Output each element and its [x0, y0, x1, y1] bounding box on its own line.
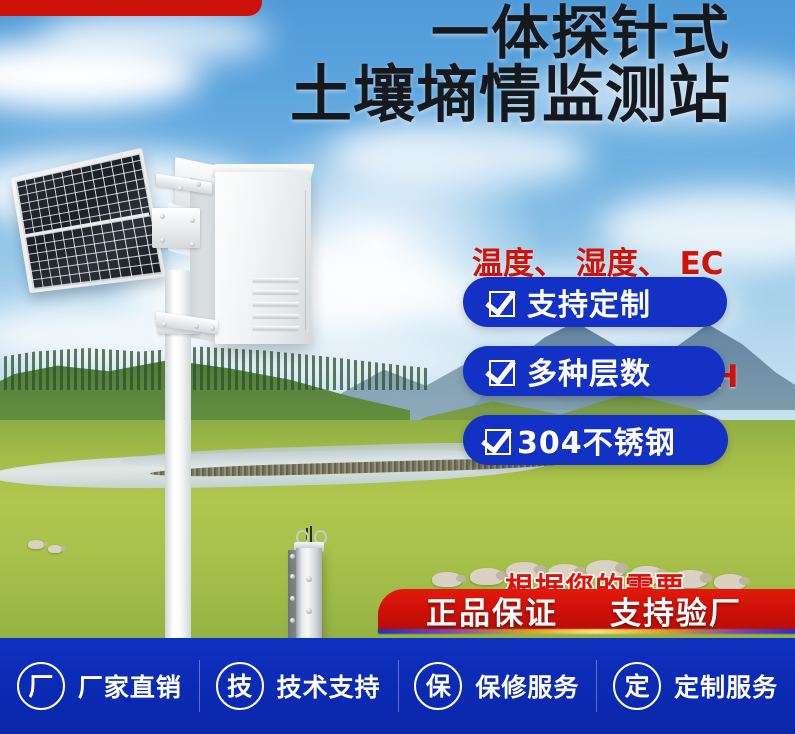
sheep: [470, 568, 504, 585]
bolt: [194, 324, 199, 329]
custom-badge-icon: 定: [613, 662, 661, 710]
probe-screw: [290, 554, 295, 559]
bolt: [190, 242, 195, 247]
bolt: [178, 186, 183, 191]
probe-indicator: [306, 576, 312, 582]
service-label: 定制服务: [674, 668, 778, 704]
cabinet-vent-louver: [252, 326, 299, 330]
bolt: [160, 214, 165, 219]
cabinet-vent-louver: [252, 290, 299, 294]
checkbox-checked-icon: [489, 358, 515, 384]
equipment-cabinet: [215, 172, 311, 344]
page-title: 一体探针式 土壤墒情监测站: [290, 4, 731, 126]
bolt: [160, 238, 165, 243]
headline-line-2: 土壤墒情监测站: [290, 63, 731, 126]
service-bar: 厂 厂家直销 技 技术支持 保 保修服务 定 定制服务: [0, 638, 795, 734]
product-illustration: [0, 150, 400, 630]
bolt: [190, 218, 195, 223]
probe-screw: [290, 618, 295, 623]
service-item-tech-support[interactable]: 技 技术支持: [199, 638, 398, 734]
feature-pill-support-custom[interactable]: 支持定制: [463, 277, 727, 327]
headline-line-1: 一体探针式: [290, 4, 731, 63]
cabinet-door-seam: [305, 190, 306, 330]
top-red-accent-bar: [0, 0, 262, 16]
service-item-customization[interactable]: 定 定制服务: [596, 638, 795, 734]
solar-panel: [11, 148, 166, 294]
cabinet-vent-louver: [252, 278, 299, 282]
probe-indicator: [306, 608, 312, 614]
warranty-badge-icon: 保: [414, 662, 462, 710]
tech-badge-icon: 技: [216, 662, 264, 710]
product-poster: 一体探针式 土壤墒情监测站 温度、 湿度、 EC 盐分、 NPK、 pH 支持定…: [0, 0, 795, 734]
guarantee-banner: 正品保证 支持验厂: [378, 589, 795, 632]
cabinet-vent-louver: [252, 314, 299, 318]
checkbox-checked-icon: [485, 427, 511, 453]
feature-pill-stainless-steel[interactable]: 304不锈钢: [463, 415, 728, 465]
feature-pill-label: 多种层数: [527, 349, 651, 393]
feature-pill-multi-layer[interactable]: 多种层数: [463, 346, 725, 396]
bolt: [196, 182, 201, 187]
bolt: [162, 322, 167, 327]
bolt: [210, 326, 215, 331]
probe-screw: [290, 596, 295, 601]
cloud-icon: [40, 10, 270, 64]
cabinet-vent-louver: [252, 302, 299, 306]
factory-badge-icon: 厂: [17, 662, 65, 710]
banner-item-factory-audit: 支持验厂: [610, 588, 742, 633]
service-item-factory-direct[interactable]: 厂 厂家直销: [0, 638, 199, 734]
service-label: 保修服务: [475, 668, 579, 704]
service-item-warranty[interactable]: 保 保修服务: [398, 638, 597, 734]
feature-pill-label: 支持定制: [527, 280, 651, 324]
service-label: 厂家直销: [78, 668, 182, 704]
service-label: 技术支持: [277, 668, 381, 704]
checkbox-checked-icon: [489, 289, 515, 315]
banner-item-authentic: 正品保证: [426, 588, 558, 633]
banner-highlight-strip: [378, 629, 795, 634]
probe-screw: [290, 574, 295, 579]
feature-pill-label: 304不锈钢: [517, 418, 676, 462]
sheep: [432, 572, 462, 587]
solar-cells: [15, 153, 162, 289]
